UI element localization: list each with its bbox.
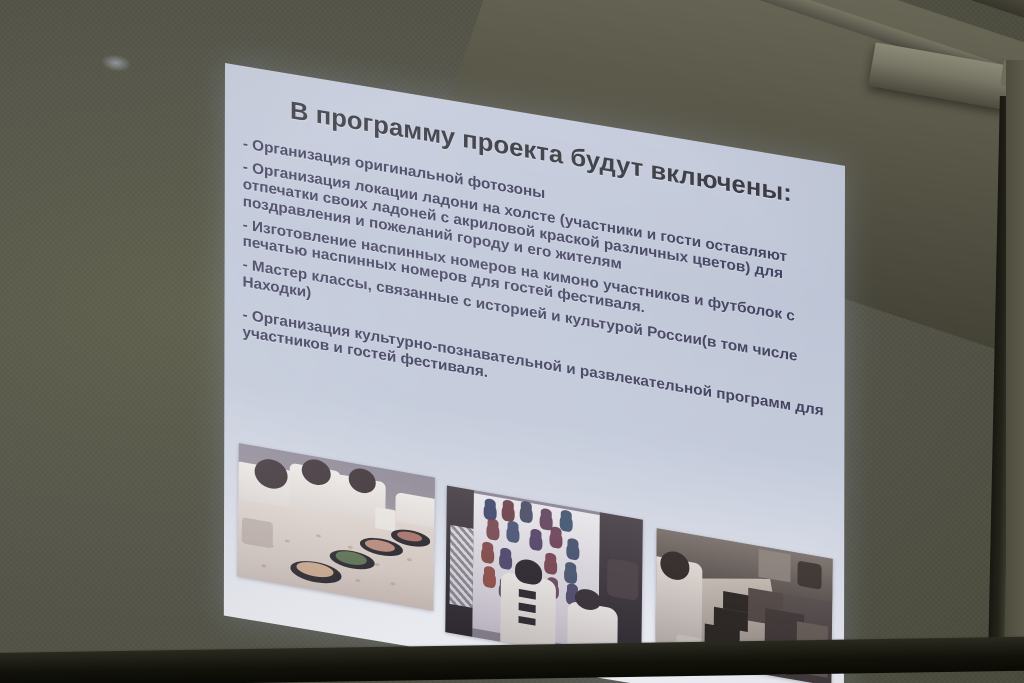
presentation-room-photo: В программу проекта будут включены: - Ор… — [0, 0, 1024, 683]
projected-slide: В программу проекта будут включены: - Ор… — [224, 63, 845, 683]
slide-canvas: В программу проекта будут включены: - Ор… — [224, 63, 845, 683]
photo-master-class-table — [237, 443, 435, 611]
photo-handprint-canvas — [445, 486, 643, 667]
wall-right-of-screen — [1006, 60, 1024, 670]
